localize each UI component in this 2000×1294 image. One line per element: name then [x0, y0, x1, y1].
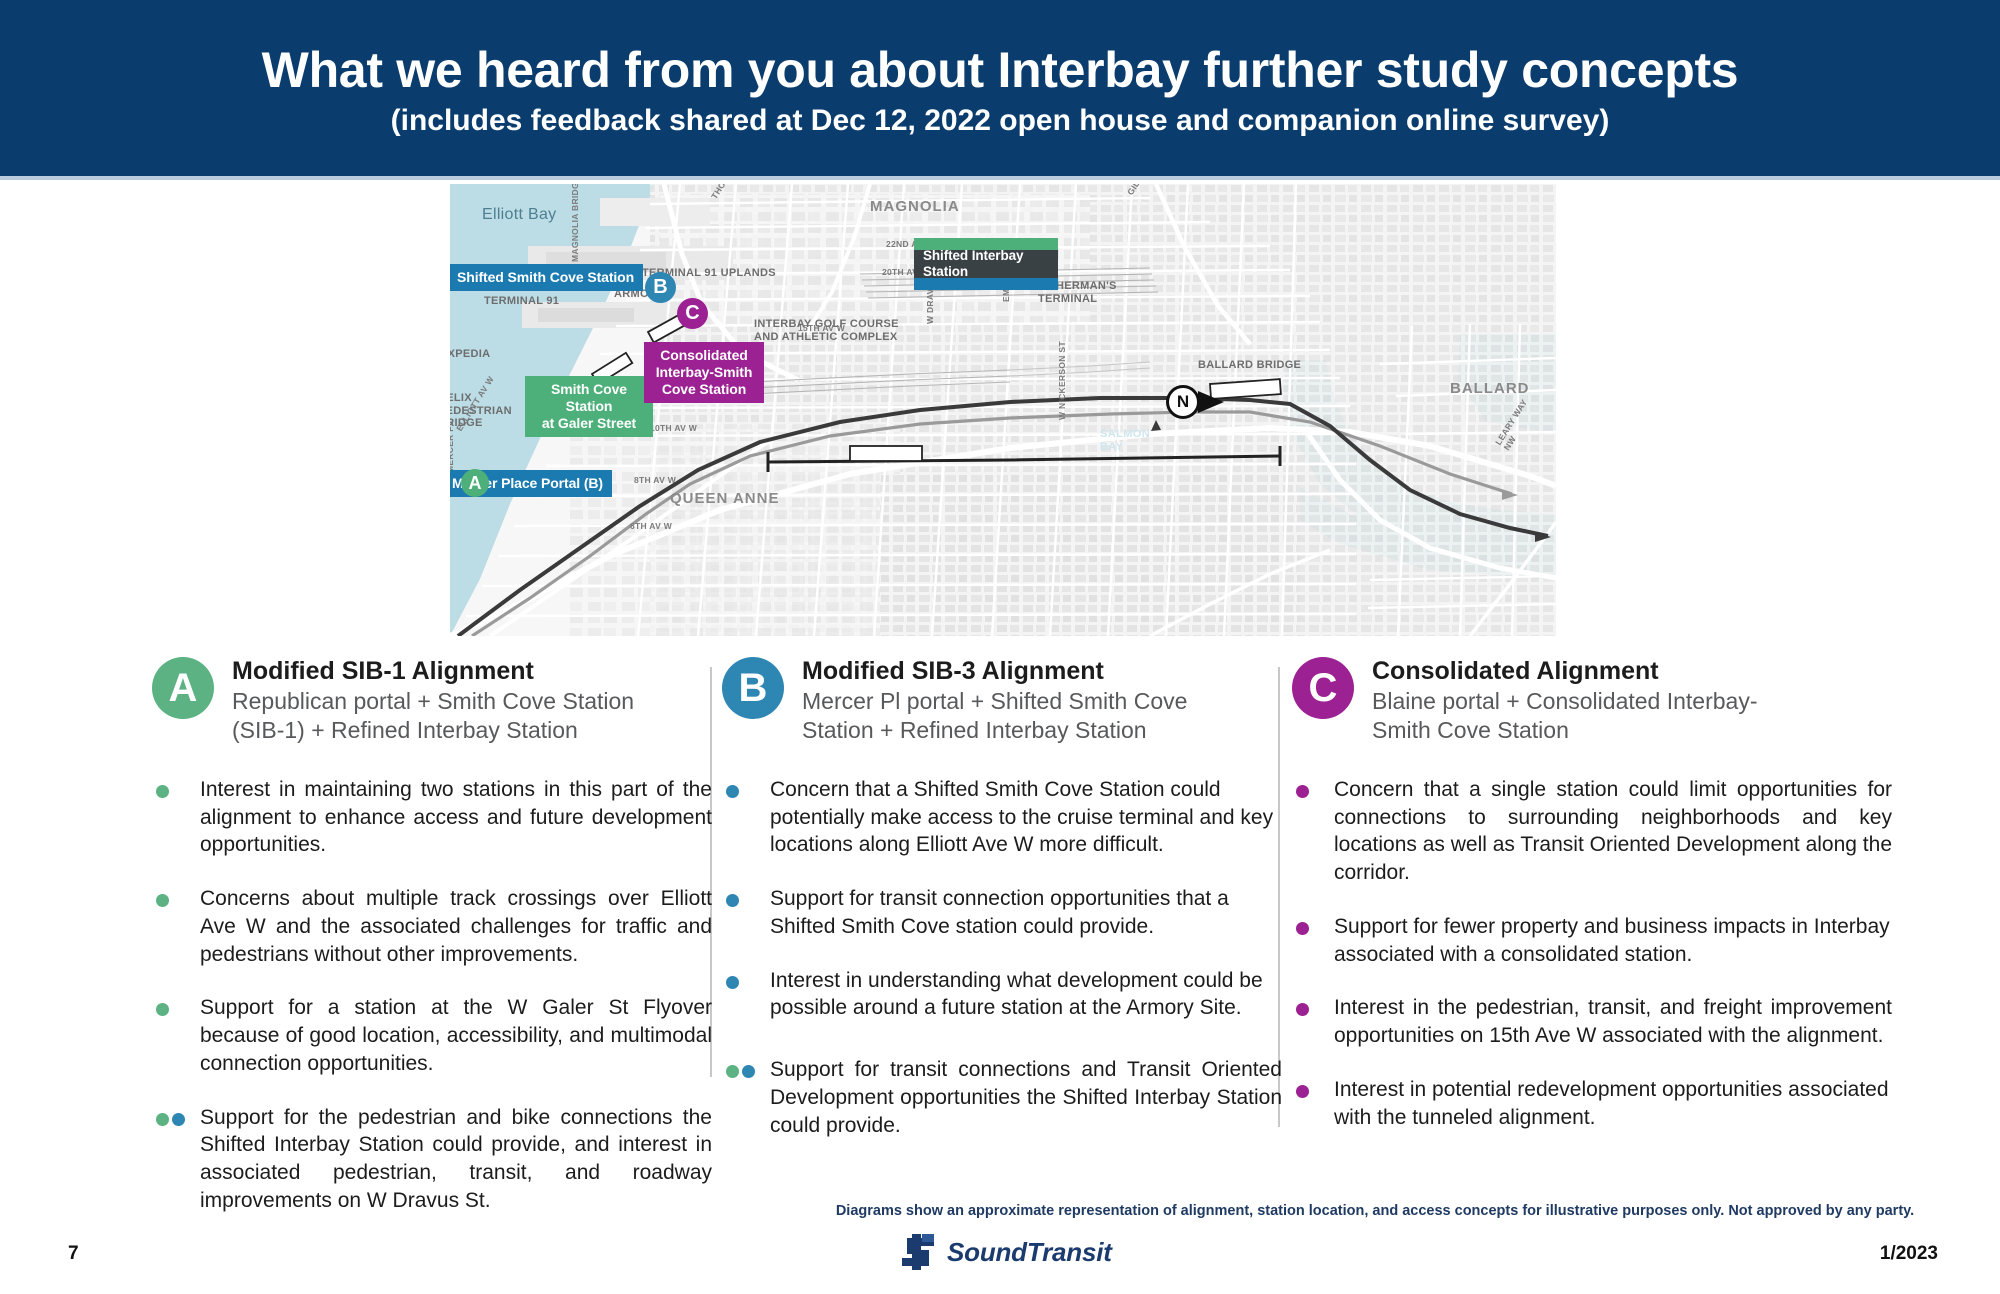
map-badge-a[interactable]: A — [461, 469, 489, 497]
column-modified-sib-1: A Modified SIB-1 Alignment Republican po… — [152, 655, 712, 1240]
dot-blue-icon — [172, 1113, 185, 1126]
bullet-dots — [722, 1056, 770, 1078]
dot-green-icon — [726, 1065, 739, 1078]
dot-purple-icon — [1296, 1003, 1309, 1016]
sound-transit-logo: SoundTransit — [898, 1232, 1112, 1272]
list-item-text: Support for the pedestrian and bike conn… — [200, 1104, 712, 1215]
sound-transit-wordmark: SoundTransit — [947, 1237, 1112, 1268]
list-item: Interest in the pedestrian, transit, and… — [1292, 994, 1892, 1049]
column-c-header: C Consolidated Alignment Blaine portal +… — [1292, 655, 1892, 744]
callout-smith-cove-station-galer[interactable]: Smith Cove Station at Galer Street — [525, 376, 653, 437]
header-banner: What we heard from you about Interbay fu… — [0, 0, 2000, 176]
column-b-badge: B — [722, 657, 784, 719]
column-a-header: A Modified SIB-1 Alignment Republican po… — [152, 655, 712, 744]
bullet-dots — [152, 994, 200, 1016]
list-item-text: Concerns about multiple track crossings … — [200, 885, 712, 968]
column-a-subtitle: Republican portal + Smith Cove Station (… — [232, 687, 634, 744]
list-item-text: Interest in maintaining two stations in … — [200, 776, 712, 859]
disclaimer-text: Diagrams show an approximate representat… — [795, 1202, 1955, 1221]
column-c-bullets: Concern that a single station could limi… — [1292, 776, 1892, 1131]
column-c-subtitle: Blaine portal + Consolidated Interbay- S… — [1372, 687, 1758, 744]
callout-shifted-smith-cove-station[interactable]: Shifted Smith Cove Station — [450, 264, 643, 291]
bullet-dots — [1292, 994, 1334, 1016]
dot-blue-icon — [742, 1065, 755, 1078]
bullet-dots — [722, 967, 770, 989]
list-item-text: Support for transit connections and Tran… — [770, 1056, 1282, 1139]
list-item-text: Support for a station at the W Galer St … — [200, 994, 712, 1077]
list-item: Concern that a Shifted Smith Cove Statio… — [722, 776, 1282, 859]
bullet-dots — [152, 885, 200, 907]
callout-consolidated-station[interactable]: Consolidated Interbay-Smith Cove Station — [644, 342, 764, 403]
column-a-badge: A — [152, 657, 214, 719]
compass-arrow-icon — [1198, 391, 1224, 413]
column-a-bullets: Interest in maintaining two stations in … — [152, 776, 712, 1214]
date-stamp: 1/2023 — [1880, 1243, 1938, 1265]
column-consolidated: C Consolidated Alignment Blaine portal +… — [1292, 655, 1892, 1157]
list-item: Interest in understanding what developme… — [722, 967, 1282, 1022]
column-c-title: Consolidated Alignment — [1372, 657, 1758, 685]
map-badge-c[interactable]: C — [677, 298, 708, 329]
bullet-dots — [1292, 776, 1334, 798]
list-item-text: Support for transit connection opportuni… — [770, 885, 1282, 940]
dot-green-icon — [156, 894, 169, 907]
list-item-text: Interest in the pedestrian, transit, and… — [1334, 994, 1892, 1049]
bullet-dots — [152, 1104, 200, 1126]
dot-green-icon — [156, 1113, 169, 1126]
list-item-text: Concern that a Shifted Smith Cove Statio… — [770, 776, 1282, 859]
dot-purple-icon — [1296, 1085, 1309, 1098]
list-item-text: Interest in potential redevelopment oppo… — [1334, 1076, 1892, 1131]
list-item: Support for the pedestrian and bike conn… — [152, 1104, 712, 1215]
bullet-dots — [152, 776, 200, 798]
list-item: Support for transit connections and Tran… — [722, 1056, 1282, 1139]
list-item-text: Interest in understanding what developme… — [770, 967, 1282, 1022]
callout-shifted-interbay-station[interactable]: Shifted Interbay Station — [914, 238, 1058, 290]
page-subtitle: (includes feedback shared at Dec 12, 202… — [391, 103, 1610, 139]
shifted-interbay-label: Shifted Interbay Station — [914, 250, 1058, 278]
bullet-dots — [1292, 1076, 1334, 1098]
alignment-columns: A Modified SIB-1 Alignment Republican po… — [0, 655, 2000, 1175]
column-b-bullets: Concern that a Shifted Smith Cove Statio… — [722, 776, 1282, 1139]
sound-transit-mark-icon — [898, 1232, 938, 1272]
dot-purple-icon — [1296, 785, 1309, 798]
column-b-header: B Modified SIB-3 Alignment Mercer Pl por… — [722, 655, 1282, 744]
slide-root: What we heard from you about Interbay fu… — [0, 0, 2000, 1294]
list-item: Support for transit connection opportuni… — [722, 885, 1282, 940]
dot-green-icon — [156, 1003, 169, 1016]
list-item: Support for fewer property and business … — [1292, 913, 1892, 968]
column-a-title: Modified SIB-1 Alignment — [232, 657, 634, 685]
interbay-alignment-map[interactable]: Elliott Bay SALMON BAY MAGNOLIA BALLARD … — [450, 184, 1556, 636]
list-item: Support for a station at the W Galer St … — [152, 994, 712, 1077]
dot-blue-icon — [726, 976, 739, 989]
dot-purple-icon — [1296, 922, 1309, 935]
map-badge-b[interactable]: B — [645, 272, 676, 303]
column-c-badge: C — [1292, 657, 1354, 719]
dot-blue-icon — [726, 894, 739, 907]
column-b-subtitle: Mercer Pl portal + Shifted Smith Cove St… — [802, 687, 1187, 744]
bullet-dots — [722, 776, 770, 798]
list-item: Interest in maintaining two stations in … — [152, 776, 712, 859]
dot-green-icon — [156, 785, 169, 798]
bullet-dots — [722, 885, 770, 907]
list-item-text: Concern that a single station could limi… — [1334, 776, 1892, 887]
list-item: Concern that a single station could limi… — [1292, 776, 1892, 887]
column-b-title: Modified SIB-3 Alignment — [802, 657, 1187, 685]
list-item: Concerns about multiple track crossings … — [152, 885, 712, 968]
compass-north-icon: N — [1166, 385, 1200, 419]
page-title: What we heard from you about Interbay fu… — [262, 43, 1739, 97]
column-modified-sib-3: B Modified SIB-3 Alignment Mercer Pl por… — [722, 655, 1282, 1165]
page-number: 7 — [68, 1243, 79, 1265]
list-item: Interest in potential redevelopment oppo… — [1292, 1076, 1892, 1131]
bullet-dots — [1292, 913, 1334, 935]
dot-blue-icon — [726, 785, 739, 798]
header-rule — [0, 176, 2000, 180]
list-item-text: Support for fewer property and business … — [1334, 913, 1892, 968]
